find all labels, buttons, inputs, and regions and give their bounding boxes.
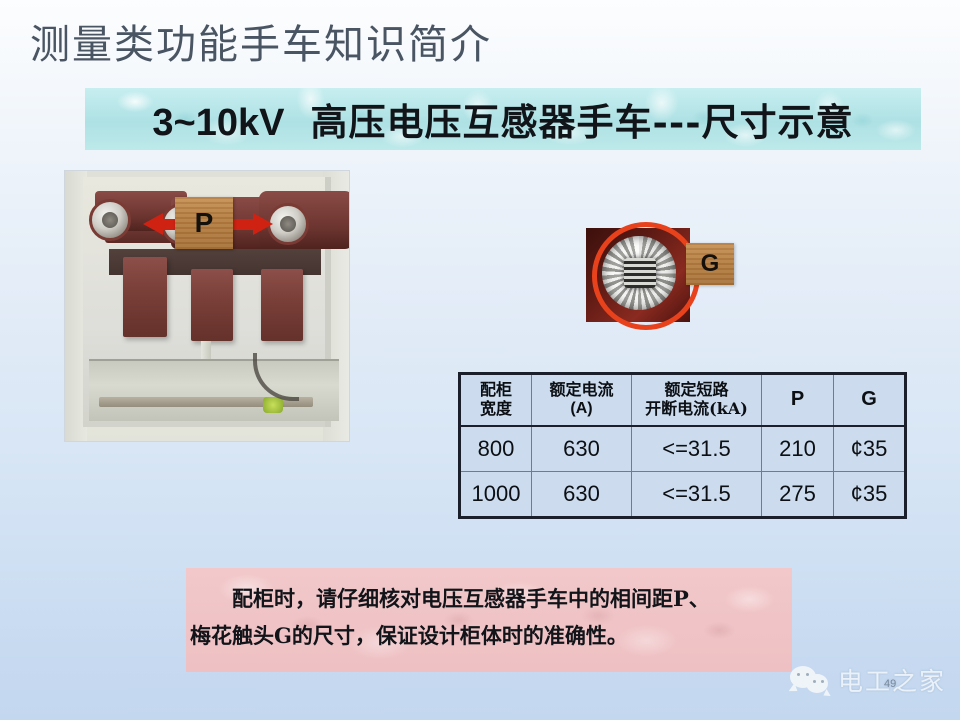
insulator-block-1 <box>123 257 167 337</box>
page-number: 49 <box>884 678 896 690</box>
slide-banner: 3~10kV高压电压互感器手车---尺寸示意 <box>85 88 921 150</box>
table-header-p: P <box>762 374 834 426</box>
note-line-1: 配柜时，请仔细核对电压互感器手车中的相间距P、 <box>190 581 788 618</box>
specification-table: 配柜 宽度 额定电流 (A) 额定短路 开断电流(kA) P G 800 630… <box>458 372 907 519</box>
truck-base-chassis <box>89 359 339 421</box>
page-title: 测量类功能手车知识简介 <box>30 12 492 70</box>
cell-breaking-current: <=31.5 <box>632 426 762 472</box>
note-callout-box: 配柜时，请仔细核对电压互感器手车中的相间距P、 梅花触头G的尺寸，保证设计柜体时… <box>186 568 792 672</box>
wechat-icon <box>790 666 830 694</box>
cell-g: ¢35 <box>834 472 906 518</box>
cell-p: 210 <box>762 426 834 472</box>
contact-right-icon <box>267 203 309 245</box>
banner-title: 3~10kV高压电压互感器手车---尺寸示意 <box>152 92 853 146</box>
cell-p: 275 <box>762 472 834 518</box>
banner-voltage: 3~10kV <box>152 102 284 144</box>
insulator-block-3 <box>261 269 303 341</box>
g-annotation-circle-icon <box>592 222 700 330</box>
cell-g: ¢35 <box>834 426 906 472</box>
arrow-head-left-icon <box>143 213 163 235</box>
cell-current: 630 <box>532 472 632 518</box>
contact-left-icon <box>89 199 131 241</box>
table-header-g: G <box>834 374 906 426</box>
table-header-cabinet-width: 配柜 宽度 <box>460 374 532 426</box>
p-dimension-label: P <box>175 197 233 249</box>
watermark: 电工之家 49 <box>790 662 946 698</box>
g-dimension-label: G <box>686 243 734 285</box>
cell-current: 630 <box>532 426 632 472</box>
watermark-text: 电工之家 49 <box>838 662 946 698</box>
arrow-head-right-icon <box>253 213 273 235</box>
cell-breaking-current: <=31.5 <box>632 472 762 518</box>
truck-frame: P <box>83 177 331 427</box>
table-header-rated-current: 额定电流 (A) <box>532 374 632 426</box>
note-line-2: 梅花触头G的尺寸，保证设计柜体时的准确性。 <box>190 618 788 655</box>
green-ground-lug <box>263 397 283 413</box>
cell-width: 800 <box>460 426 532 472</box>
cell-width: 1000 <box>460 472 532 518</box>
table-header-row: 配柜 宽度 额定电流 (A) 额定短路 开断电流(kA) P G <box>460 374 906 426</box>
table-row: 800 630 <=31.5 210 ¢35 <box>460 426 906 472</box>
left-photo-voltage-transformer-truck: P <box>64 170 350 442</box>
table-row: 1000 630 <=31.5 275 ¢35 <box>460 472 906 518</box>
insulator-block-2 <box>191 269 233 341</box>
banner-subject: 高压电压互感器手车---尺寸示意 <box>311 100 854 144</box>
table-header-rated-short-circuit-breaking-current: 额定短路 开断电流(kA) <box>632 374 762 426</box>
